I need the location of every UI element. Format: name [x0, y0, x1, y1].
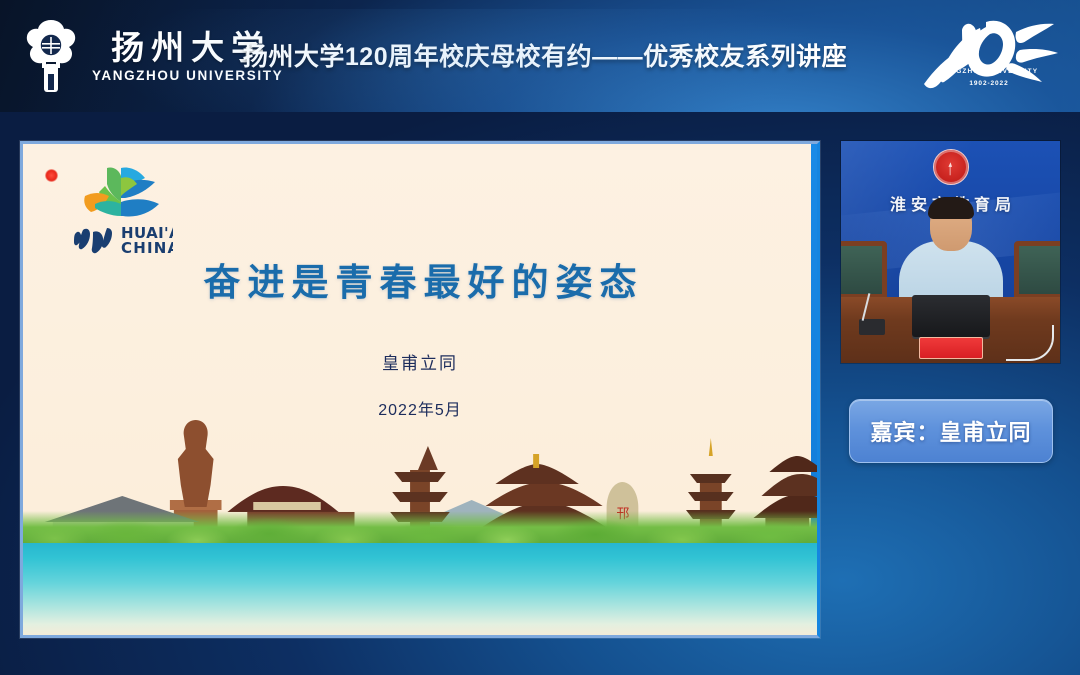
presentation-slide-panel[interactable]: HUAI'AN CHINA 奋进是青春最好的姿态 皇甫立同 2022年5月 — [20, 141, 820, 638]
anniversary-years: 1902-2022 — [916, 80, 1062, 87]
broadcast-stage: 扬州大学 YANGZHOU UNIVERSITY 扬州大学120周年校庆母校有约… — [0, 0, 1080, 675]
chair-left-icon — [841, 241, 887, 299]
laptop-icon — [912, 295, 990, 337]
anniversary-name-en: YANGZHOU UNIVERSITY — [916, 68, 1062, 75]
speaker-hair — [928, 197, 974, 219]
speaker-head — [930, 199, 972, 251]
guest-name-badge[interactable]: 嘉宾：皇甫立同 — [849, 399, 1053, 463]
education-bureau-emblem-icon — [933, 149, 969, 185]
record-dot-icon — [45, 169, 58, 182]
lake-water — [23, 543, 817, 635]
slide-title: 奋进是青春最好的姿态 — [23, 252, 817, 306]
red-nameplate-icon — [919, 337, 983, 359]
huaian-cityscape-illustration: 邗 信 里 — [23, 410, 817, 635]
guest-name-label: 嘉宾：皇甫立同 — [870, 415, 1031, 447]
anniversary-120-logo-icon — [916, 10, 1062, 102]
microphone-icon — [859, 319, 885, 335]
speaker-video-feed[interactable]: 淮安市教育局 — [841, 141, 1060, 363]
huaian-city-logo-icon: HUAI'AN CHINA — [65, 158, 173, 263]
cable — [1006, 325, 1054, 361]
chair-right-icon — [1014, 241, 1060, 299]
event-header-banner: 扬州大学 YANGZHOU UNIVERSITY 扬州大学120周年校庆母校有约… — [0, 0, 1080, 112]
slide-presenter-name: 皇甫立同 — [23, 349, 817, 374]
speaker-person — [899, 199, 1003, 307]
slide-content: HUAI'AN CHINA 奋进是青春最好的姿态 皇甫立同 2022年5月 — [23, 144, 817, 635]
